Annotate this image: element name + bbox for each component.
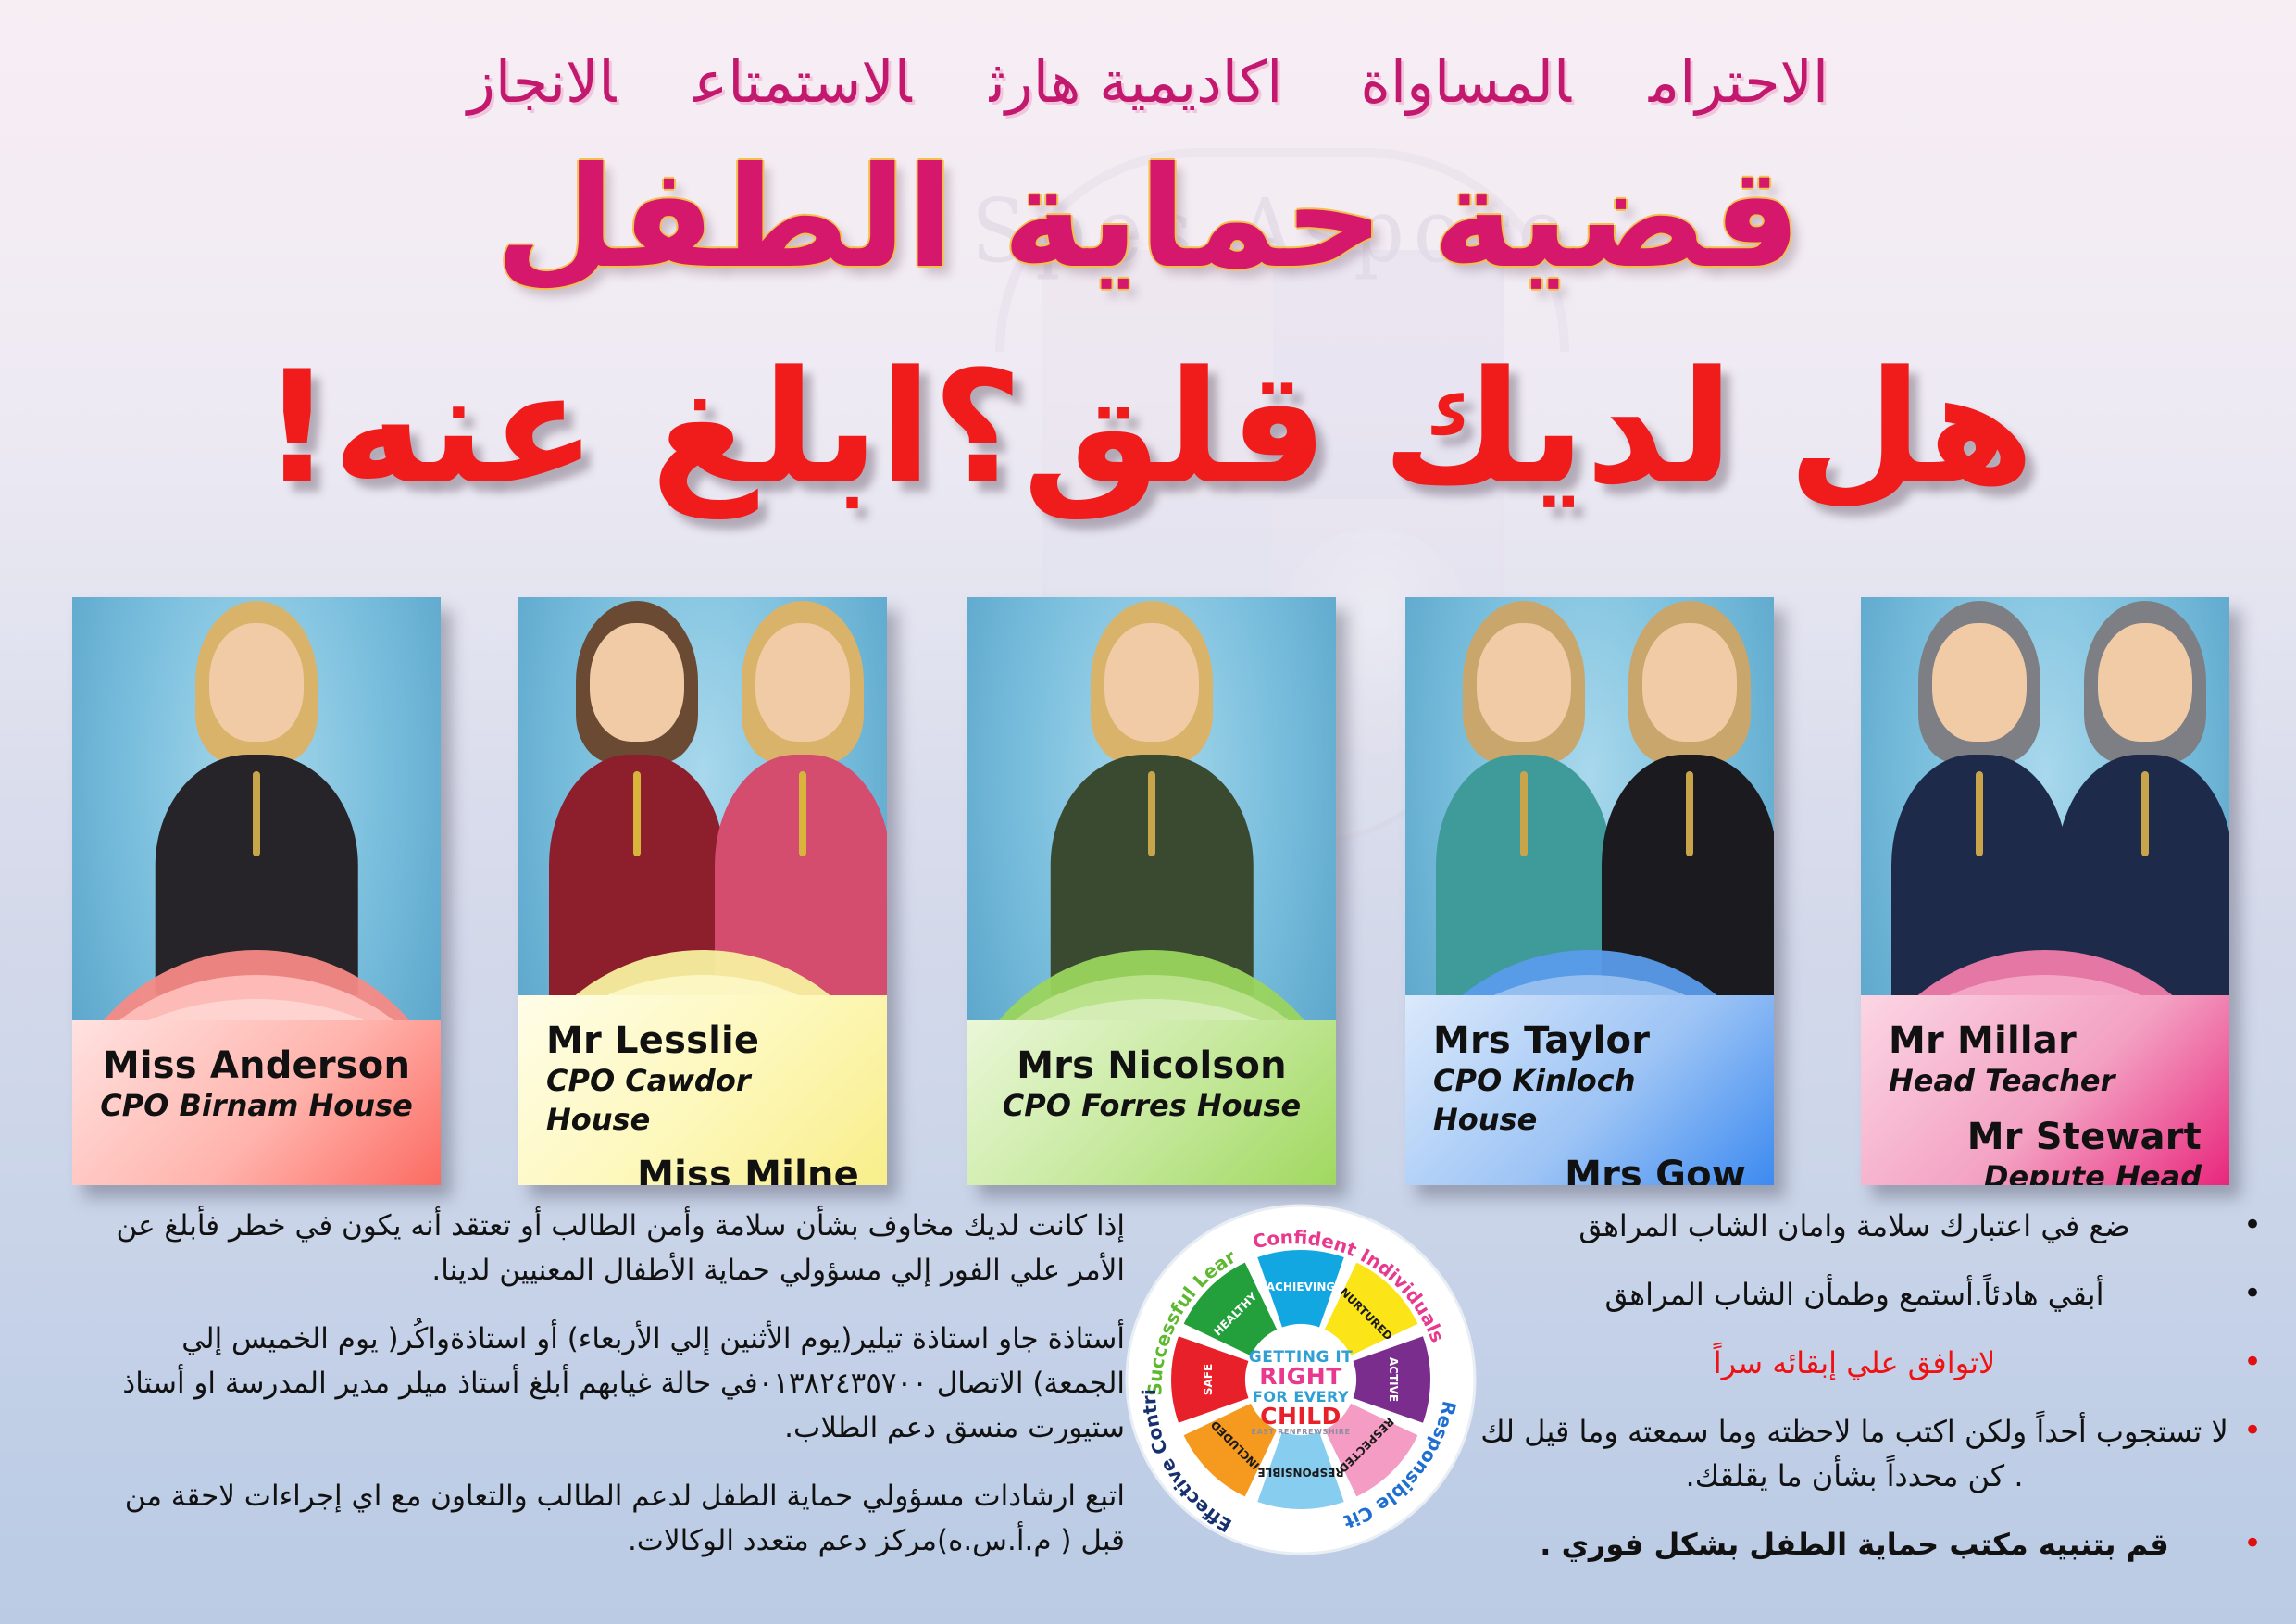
staff-card: Mr MillarHead TeacherMr StewartDepute He… xyxy=(1861,597,2229,1185)
staff-card: Mr LesslieCPO Cawdor HouseMiss MilneCPO … xyxy=(518,597,887,1185)
portrait-lanyard xyxy=(633,771,641,856)
staff-name-plate: Mr LesslieCPO Cawdor HouseMiss MilneCPO … xyxy=(518,995,887,1185)
wheel-segment-label-achieving: ACHIEVING xyxy=(1267,1280,1335,1293)
portrait-lanyard xyxy=(1148,771,1155,856)
staff-role: CPO Cawdor House xyxy=(546,1062,859,1139)
staff-role: CPO Forres House xyxy=(995,1087,1308,1126)
portrait-figure xyxy=(710,597,887,995)
portrait-figure xyxy=(150,597,363,995)
staff-name: Miss Milne xyxy=(546,1154,859,1185)
poster-canvas: Spes Aspore الاحترامالمساواةاكاديمية هار… xyxy=(0,0,2296,1624)
staff-name: Mrs Nicolson xyxy=(995,1044,1308,1087)
portrait-lanyard xyxy=(253,771,260,856)
portrait-head xyxy=(755,623,850,742)
staff-member-entry: Mr MillarHead Teacher xyxy=(1889,1019,2202,1101)
staff-name-plate: Mrs TaylorCPO Kinloch HouseMrs GowCPO Ki… xyxy=(1405,995,1774,1185)
staff-name: Mr Stewart xyxy=(1889,1116,2202,1158)
staff-card: Miss AndersonCPO Birnam House xyxy=(72,597,441,1185)
bullet-marker-icon: • xyxy=(2237,1409,2268,1451)
staff-member-entry: Mrs TaylorCPO Kinloch House xyxy=(1433,1019,1746,1139)
wheel-segment-label-active: ACTIVE xyxy=(1387,1357,1400,1402)
portrait-figure xyxy=(1431,597,1616,995)
bullet-marker-icon: • xyxy=(2237,1204,2268,1245)
staff-role: CPO Kinloch House xyxy=(1433,1062,1746,1139)
staff-name: Miss Anderson xyxy=(100,1044,413,1087)
bullet-marker-icon: • xyxy=(2237,1522,2268,1564)
wheel-segment-label-safe: SAFE xyxy=(1202,1364,1215,1395)
staff-cards-row: Miss AndersonCPO Birnam HouseMr LesslieC… xyxy=(0,597,2296,1190)
portrait-lanyard xyxy=(1976,771,1983,856)
staff-name-plate: Mr MillarHead TeacherMr StewartDepute He… xyxy=(1861,995,2229,1185)
bullet-text: لاتوافق علي إبقائه سراً xyxy=(1472,1341,2237,1385)
portrait-head xyxy=(590,623,684,742)
girfec-wheel-svg: ACHIEVINGNURTUREDACTIVERESPECTEDRESPONSI… xyxy=(1125,1204,1477,1555)
portrait-figure xyxy=(1887,597,2072,995)
wheel-center-line-4: CHILD xyxy=(1260,1403,1341,1430)
wheel-center-line-2: RIGHT xyxy=(1259,1363,1342,1390)
staff-card: Mrs NicolsonCPO Forres House xyxy=(967,597,1336,1185)
portrait-lanyard xyxy=(799,771,806,856)
staff-member-entry: Miss AndersonCPO Birnam House xyxy=(100,1044,413,1126)
bullet-text: أبقي هادئاً.أستمع وطمأن الشاب المراهق xyxy=(1472,1272,2237,1317)
action-bullet-5: •قم بتنبيه مكتب حماية الطفل بشكل فوري . xyxy=(1472,1522,2268,1567)
value-word-4: الانجاز xyxy=(468,48,616,116)
staff-member-entry: Miss MilneCPO Cawdor House xyxy=(546,1154,859,1185)
portrait-lanyard xyxy=(1520,771,1528,856)
bullet-text: لا تستجوب أحداً ولكن اكتب ما لاحظته وما … xyxy=(1472,1409,2237,1498)
portrait-figure xyxy=(544,597,730,995)
bullet-text: ضع في اعتبارك سلامة وامان الشاب المراهق xyxy=(1472,1204,2237,1248)
action-bullet-4: •لا تستجوب أحداً ولكن اكتب ما لاحظته وما… xyxy=(1472,1409,2268,1498)
girfec-wheel-logo: ACHIEVINGNURTUREDACTIVERESPECTEDRESPONSI… xyxy=(1125,1204,1477,1555)
guidance-paragraphs: إذا كانت لديك مخاوف بشأن سلامة وأمن الطا… xyxy=(88,1204,1125,1587)
guidance-paragraph-1: إذا كانت لديك مخاوف بشأن سلامة وأمن الطا… xyxy=(88,1204,1125,1293)
action-bullet-list: •ضع في اعتبارك سلامة وامان الشاب المراهق… xyxy=(1472,1204,2268,1591)
portrait-figure xyxy=(1045,597,1258,995)
staff-member-entry: Mrs GowCPO Kinloch House xyxy=(1433,1154,1746,1185)
wheel-segment-label-responsible: RESPONSIBLE xyxy=(1257,1466,1343,1479)
staff-card: Mrs TaylorCPO Kinloch HouseMrs GowCPO Ki… xyxy=(1405,597,1774,1185)
page-title: قضية حماية الطفل xyxy=(0,139,2296,299)
staff-name: Mr Lesslie xyxy=(546,1019,859,1062)
portrait-figure xyxy=(1597,597,1774,995)
portrait-head xyxy=(1477,623,1571,742)
staff-name: Mr Millar xyxy=(1889,1019,2202,1062)
staff-member-entry: Mr StewartDepute Head Teacher xyxy=(1889,1116,2202,1185)
staff-name: Mrs Taylor xyxy=(1433,1019,1746,1062)
bullet-text: قم بتنبيه مكتب حماية الطفل بشكل فوري . xyxy=(1472,1522,2237,1567)
value-word-0: الاحترام xyxy=(1649,48,1828,116)
portrait-head xyxy=(1642,623,1737,742)
portrait-head xyxy=(2098,623,2192,742)
staff-role: CPO Birnam House xyxy=(100,1087,413,1126)
value-word-2: اكاديمية هارث xyxy=(990,48,1283,116)
staff-name-plate: Mrs NicolsonCPO Forres House xyxy=(967,1020,1336,1185)
staff-member-entry: Mrs NicolsonCPO Forres House xyxy=(995,1044,1308,1126)
value-word-3: الاستمتاع xyxy=(693,48,911,116)
portrait-head xyxy=(209,623,304,742)
portrait-head xyxy=(1104,623,1199,742)
guidance-paragraph-2: أستاذة جاو استاذة تيلير(يوم الأثنين إلي … xyxy=(88,1317,1125,1450)
staff-name-plate: Miss AndersonCPO Birnam House xyxy=(72,1020,441,1185)
portrait-head xyxy=(1932,623,2027,742)
guidance-paragraph-3: اتبع ارشادات مسؤولي حماية الطفل لدعم الط… xyxy=(88,1474,1125,1563)
staff-role: Head Teacher xyxy=(1889,1062,2202,1101)
portrait-lanyard xyxy=(2141,771,2149,856)
bullet-marker-icon: • xyxy=(2237,1341,2268,1382)
page-subtitle: هل لديك قلق؟ابلغ عنه! xyxy=(0,343,2296,514)
action-bullet-1: •ضع في اعتبارك سلامة وامان الشاب المراهق xyxy=(1472,1204,2268,1248)
value-word-1: المساواة xyxy=(1360,48,1570,116)
wheel-center-subtitle: EAST RENFREWSHIRE xyxy=(1251,1428,1350,1436)
portrait-lanyard xyxy=(1686,771,1693,856)
staff-member-entry: Mr LesslieCPO Cawdor House xyxy=(546,1019,859,1139)
action-bullet-2: •أبقي هادئاً.أستمع وطمأن الشاب المراهق xyxy=(1472,1272,2268,1317)
staff-role: Depute Head Teacher xyxy=(1889,1158,2202,1185)
school-values-banner: الاحترامالمساواةاكاديمية هارثالاستمتاعال… xyxy=(0,48,2296,116)
staff-name: Mrs Gow xyxy=(1433,1154,1746,1185)
portrait-figure xyxy=(2053,597,2229,995)
action-bullet-3: •لاتوافق علي إبقائه سراً xyxy=(1472,1341,2268,1385)
bullet-marker-icon: • xyxy=(2237,1272,2268,1314)
